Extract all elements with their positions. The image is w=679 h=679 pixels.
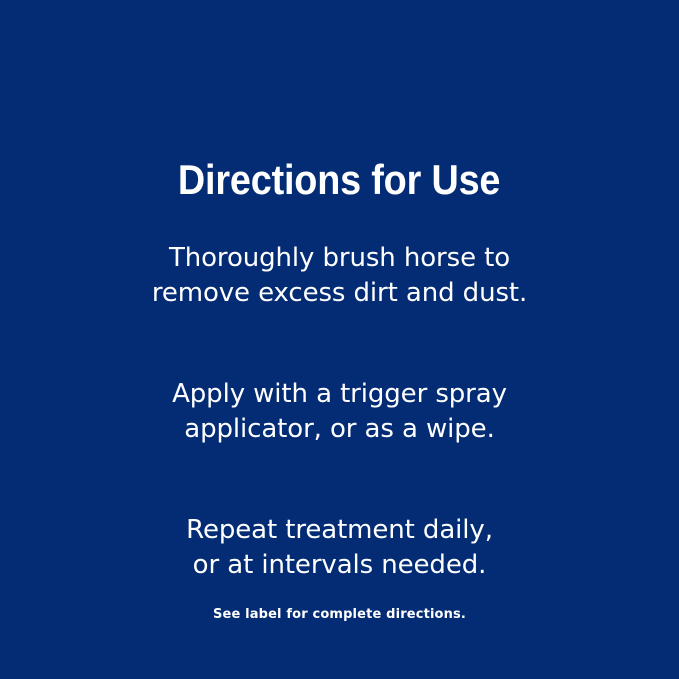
instruction-step-2-line-2: applicator, or as a wipe. <box>0 412 679 447</box>
page-title: Directions for Use <box>178 157 500 203</box>
instructions-list: Thoroughly brush horse to remove excess … <box>0 241 679 583</box>
footer-disclaimer: See label for complete directions. <box>0 606 679 624</box>
instruction-step-3: Repeat treatment daily, or at intervals … <box>0 513 679 583</box>
instruction-step-1-line-2: remove excess dirt and dust. <box>0 276 679 311</box>
title-container: Directions for Use <box>0 157 679 203</box>
instruction-step-1-line-1: Thoroughly brush horse to <box>0 241 679 276</box>
instruction-step-2: Apply with a trigger spray applicator, o… <box>0 377 679 447</box>
instruction-step-3-line-2: or at intervals needed. <box>0 548 679 583</box>
instruction-step-3-line-1: Repeat treatment daily, <box>0 513 679 548</box>
instruction-step-2-line-1: Apply with a trigger spray <box>0 377 679 412</box>
instruction-step-1: Thoroughly brush horse to remove excess … <box>0 241 679 311</box>
directions-for-use-panel: Directions for Use Thoroughly brush hors… <box>0 0 679 679</box>
footer-container: See label for complete directions. <box>0 606 679 624</box>
